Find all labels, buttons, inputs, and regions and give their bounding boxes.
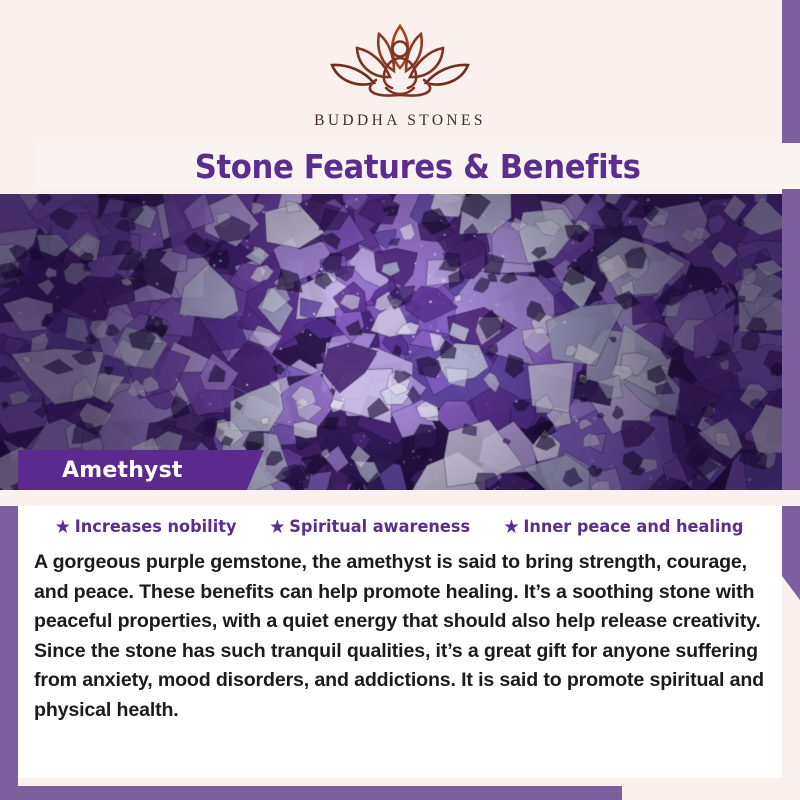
amethyst-photo (0, 194, 782, 490)
content-panel: ★Increases nobility★Spiritual awareness★… (18, 506, 782, 778)
product-infographic: BUDDHA STONES Stone Features & Benefits … (0, 0, 800, 800)
page-title-band: Stone Features & Benefits (36, 143, 800, 189)
benefit-label: Inner peace and healing (523, 517, 743, 537)
divider-strip (0, 490, 800, 506)
stone-name-label: Amethyst (18, 458, 183, 483)
frame-band-right (782, 0, 800, 600)
lotus-meditation-icon (316, 18, 484, 110)
brand-logo: BUDDHA STONES (18, 18, 782, 130)
benefit-label: Spiritual awareness (289, 517, 470, 537)
benefit-item: ★Inner peace and healing (503, 517, 743, 537)
benefit-label: Increases nobility (75, 517, 237, 537)
stone-name-banner: Amethyst (18, 450, 264, 490)
frame-band-bottom (0, 786, 622, 800)
frame-band-left (0, 490, 18, 786)
star-icon: ★ (269, 518, 285, 537)
hero-image (0, 194, 782, 490)
brand-name: BUDDHA STONES (18, 112, 782, 130)
star-icon: ★ (55, 518, 71, 537)
benefits-list: ★Increases nobility★Spiritual awareness★… (18, 506, 782, 537)
star-icon: ★ (503, 518, 519, 537)
benefit-item: ★Spiritual awareness (269, 517, 470, 537)
stone-description: A gorgeous purple gemstone, the amethyst… (18, 548, 782, 725)
page-title: Stone Features & Benefits (195, 147, 641, 186)
header-section: BUDDHA STONES Stone Features & Benefits (18, 0, 782, 194)
benefit-item: ★Increases nobility (55, 517, 237, 537)
